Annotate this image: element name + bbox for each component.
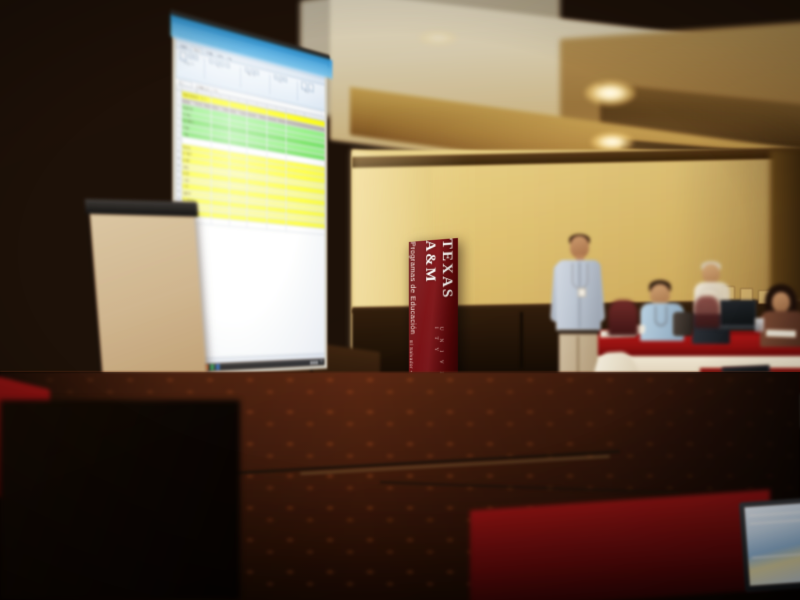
ceiling-downlight-icon [590,132,634,152]
ribbon-group-clipboard[interactable]: Portapapeles [180,51,198,67]
participant-laptop-1[interactable] [718,300,758,330]
italic-icon[interactable] [215,60,219,66]
lanyard [655,306,667,326]
bold-icon[interactable] [209,58,213,64]
ceiling-downlight-icon [418,30,458,46]
cut-icon[interactable] [188,53,192,59]
spreadsheet-cell[interactable] [212,219,230,226]
laptop-screen [720,300,756,326]
currency-icon[interactable] [274,75,278,80]
spreadsheet-cell[interactable] [267,224,286,231]
spreadsheet-cell[interactable] [247,222,267,229]
paste-icon[interactable] [180,51,187,62]
screen-content-line [749,519,800,525]
banquet-chair-dark[interactable] [694,296,720,328]
ribbon-divider [204,58,205,80]
copy-icon[interactable] [194,54,198,60]
delete-cells-icon[interactable] [308,83,313,92]
flip-chart-clamp [85,199,199,217]
head [772,292,790,312]
comma-icon[interactable] [283,77,287,82]
insert-cells-icon[interactable] [301,81,307,90]
laptop-base [718,325,758,330]
ceiling-downlight-icon [584,80,636,106]
taskbar-clock: 10:47 [319,361,323,363]
coffee-carafe[interactable] [673,312,693,336]
align-left-icon[interactable] [245,67,249,73]
volume-icon[interactable] [313,361,315,364]
head [702,264,720,283]
ribbon-group-number[interactable]: Número [274,75,287,85]
fill-color-icon[interactable] [225,62,229,68]
banner-program-text: Programas de Educación Ejecutiva [409,241,418,338]
ribbon-divider [269,74,270,94]
banquet-chair-dark[interactable] [608,300,638,336]
printed-handout[interactable] [766,329,796,337]
ribbon-group-font[interactable]: Fuente [209,58,229,71]
lanyard [572,263,588,289]
ribbon-divider [240,67,241,88]
ribbon-divider [297,81,298,101]
name-badge [578,288,586,297]
foreground-laptop[interactable] [739,498,800,593]
network-icon[interactable] [310,361,312,364]
foreground-shadow-left [0,400,240,600]
conference-room-scene: Microsoft Excel - Presupuesto.xlsx Archi… [0,0,800,600]
head [650,284,670,305]
banner-brand-text: TEXAS A&M [421,238,455,324]
ribbon-group-label: Número [278,81,284,84]
laptop-screen [744,503,800,586]
ribbon-group-alignment[interactable]: Alineación [245,67,259,78]
word-icon[interactable] [215,364,220,370]
water-glass[interactable] [755,318,764,332]
screen-content-line [749,511,800,517]
ribbon-group-cells[interactable]: Celdas [301,81,313,94]
ribbon-group-label: Celdas [305,91,310,94]
spreadsheet-cell[interactable] [230,220,248,227]
battery-icon[interactable] [316,361,318,364]
system-tray[interactable]: 10:47 [310,361,323,364]
screen-content-line [752,553,800,559]
wainscot-seam [520,312,523,368]
ribbon-group-label: Fuente [216,66,222,69]
